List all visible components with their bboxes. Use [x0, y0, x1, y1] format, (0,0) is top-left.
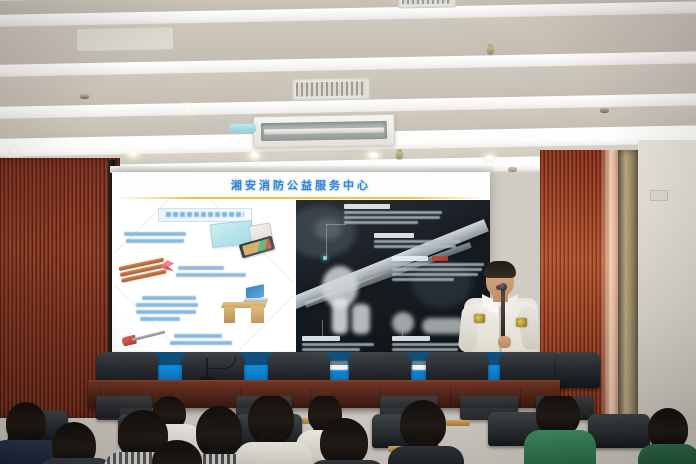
audience-person-shoulders	[524, 430, 596, 464]
ceiling	[0, 0, 696, 172]
recessed-downlight	[182, 106, 193, 113]
smoke-detector	[508, 167, 517, 172]
slide-text-line	[142, 296, 196, 300]
slide-text-line	[126, 239, 184, 243]
recessed-downlight	[249, 152, 260, 159]
photo-figure-shape	[392, 312, 414, 334]
audience-person-shoulders	[38, 458, 114, 464]
audience-area	[0, 396, 696, 464]
hand-tool-illustration	[121, 326, 170, 349]
recessed-downlight	[8, 148, 19, 155]
presenter-hand	[498, 336, 511, 348]
ac-display-panel[interactable]	[230, 124, 256, 132]
audience-person-shoulders	[638, 444, 696, 464]
audience-person	[248, 396, 294, 444]
callout-anchor-dot	[323, 256, 327, 260]
microphone-stem	[206, 358, 208, 378]
slide-callout	[344, 204, 444, 224]
vent-grill	[402, 0, 452, 4]
conference-hall-photo: 湘安消防公益服务中心	[0, 0, 696, 464]
air-supply-vent	[398, 0, 456, 9]
recessed-downlight	[128, 150, 139, 157]
callout-leader-line	[326, 224, 346, 225]
slide-text-line	[124, 232, 186, 236]
vent-grill	[296, 81, 366, 96]
slide-left-panel	[114, 200, 294, 350]
slide-text-line	[170, 341, 232, 345]
audience-person-shoulders	[308, 460, 386, 464]
slide-text-line	[140, 317, 180, 321]
stage-chair[interactable]	[556, 352, 600, 388]
cassette-air-conditioner	[253, 114, 396, 148]
presenter-hair	[484, 261, 516, 278]
slide-text-line	[176, 273, 246, 277]
photo-figure-shape	[332, 298, 348, 334]
metal-column	[618, 150, 640, 420]
air-supply-vent	[292, 77, 370, 100]
smoke-detector	[80, 94, 89, 99]
audience-person	[152, 440, 202, 464]
callout-red-badge	[432, 256, 448, 261]
recessed-downlight	[368, 152, 379, 159]
recessed-downlight	[484, 155, 495, 162]
slide-callout	[374, 233, 462, 249]
ceiling-access-hatch	[76, 26, 174, 52]
photo-figure-shape	[352, 304, 370, 334]
slide-title-text: 湘安消防公益服务中心	[231, 177, 371, 193]
audience-person	[400, 400, 446, 448]
slide-title: 湘安消防公益服务中心	[112, 174, 490, 196]
slide-text-line	[174, 334, 222, 338]
audience-person	[196, 406, 242, 458]
photo-background-shape	[314, 218, 342, 240]
far-right-wall	[638, 140, 696, 430]
audience-person	[320, 418, 368, 464]
audience-chair-trim	[446, 420, 470, 426]
microphone-head	[499, 283, 507, 291]
smoke-detector	[600, 108, 609, 113]
fire-sprinkler	[487, 46, 494, 54]
audience-person-shoulders	[236, 442, 312, 464]
laptop-illustration	[244, 286, 270, 304]
audience-chair[interactable]	[588, 414, 650, 448]
audience-person	[6, 402, 46, 444]
slide-text-line	[178, 266, 224, 270]
shoulder-insignia	[474, 314, 485, 323]
slide-title-divider	[118, 197, 484, 199]
slide-subtitle-box	[158, 208, 252, 222]
slide-text-line	[136, 310, 196, 314]
fire-sprinkler	[396, 151, 403, 159]
callout-leader-line	[326, 224, 327, 258]
shoulder-insignia	[516, 318, 527, 327]
audience-person-shoulders	[388, 446, 464, 464]
wall-plate	[650, 190, 668, 201]
slide-callout	[302, 336, 376, 350]
slide-text-line	[136, 303, 198, 307]
